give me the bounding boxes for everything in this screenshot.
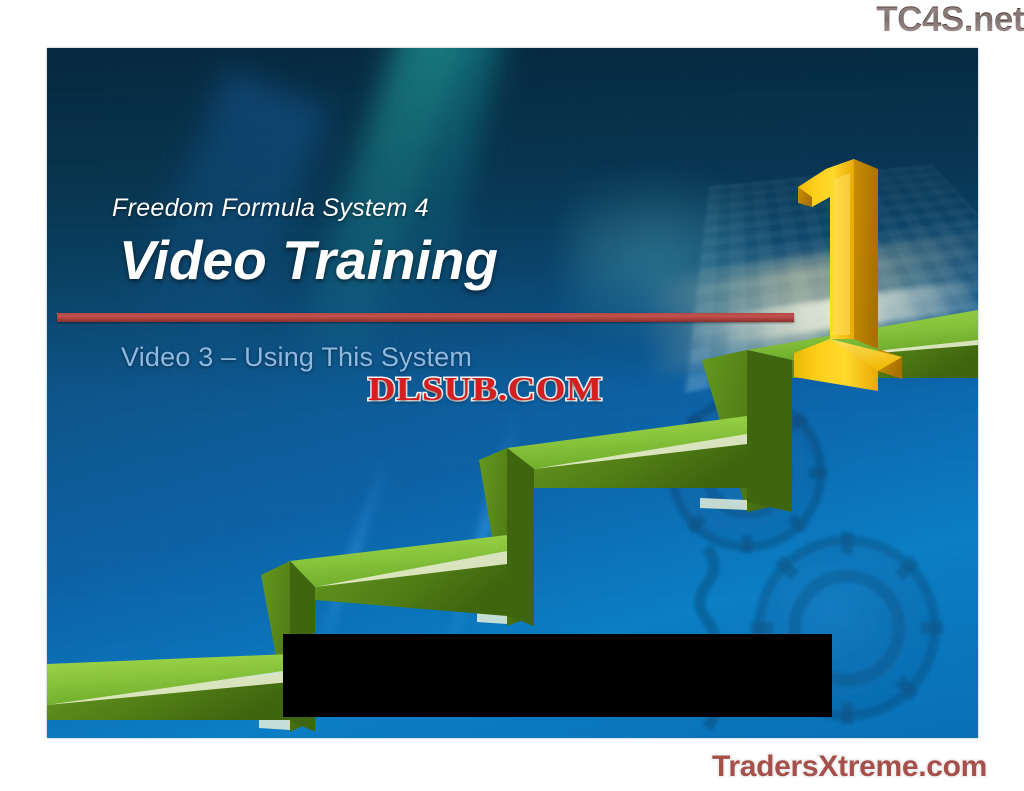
- black-redaction-bar: [283, 634, 832, 717]
- dlsub-watermark: DLSUB.COM: [368, 371, 603, 409]
- slide-subtitle-text: Video 3 – Using This System: [121, 342, 472, 373]
- site-logo-tc4s: TC4S.net: [836, 0, 1024, 42]
- presentation-slide: Freedom Formula System 4 Video Training …: [47, 48, 978, 738]
- page-title: Video Training: [119, 228, 498, 292]
- slide-eyebrow-text: Freedom Formula System 4: [112, 194, 429, 223]
- tradersxtreme-watermark: TradersXtreme.com: [712, 750, 987, 784]
- title-divider-rule: [57, 313, 794, 322]
